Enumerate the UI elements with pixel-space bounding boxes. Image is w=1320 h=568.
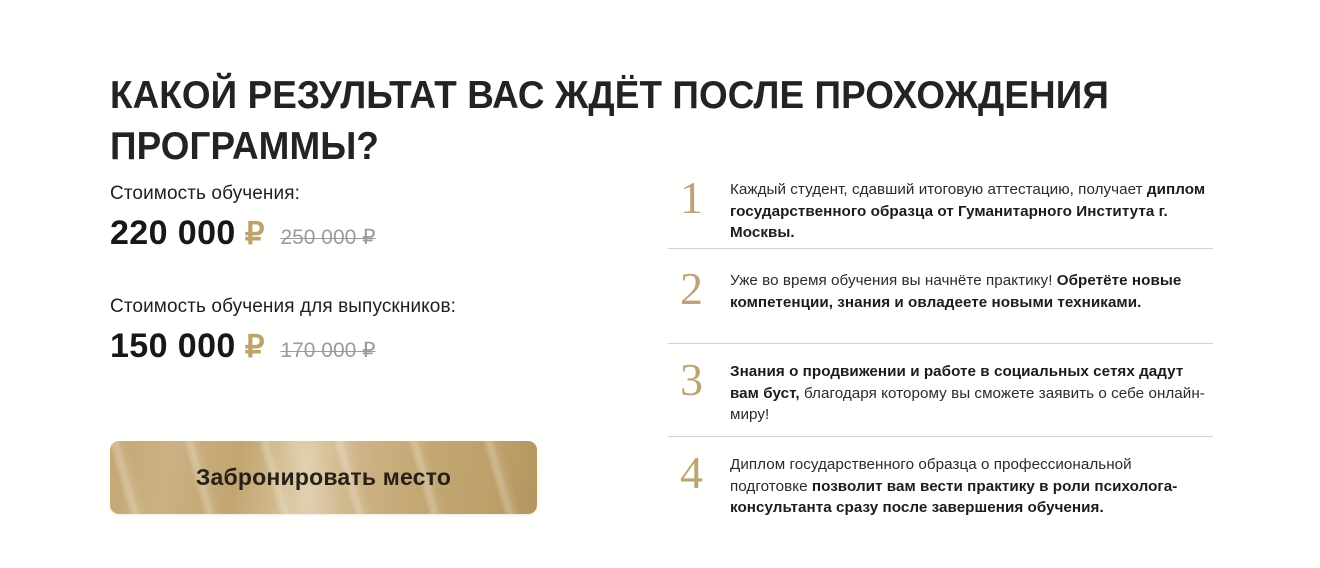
book-place-button[interactable]: Забронировать место	[110, 441, 537, 514]
price-label: Стоимость обучения для выпускников:	[110, 295, 630, 319]
pricing-column: Стоимость обучения: 220 000 ₽ 250 000 ₽ …	[110, 182, 630, 372]
price-old-amount: 170 000 ₽	[280, 330, 375, 372]
price-block-tuition: Стоимость обучения: 220 000 ₽ 250 000 ₽	[110, 182, 630, 259]
book-place-button-label: Забронировать место	[110, 441, 537, 514]
list-item-text: Уже во время обучения вы начнёте практик…	[730, 265, 1213, 313]
price-row: 220 000 ₽ 250 000 ₽	[110, 212, 630, 259]
list-item-text: Каждый студент, сдавший итоговую аттеста…	[730, 174, 1213, 244]
ruble-icon: ₽	[245, 326, 265, 368]
list-item-number: 2	[668, 265, 730, 313]
price-row: 150 000 ₽ 170 000 ₽	[110, 325, 630, 372]
list-item-number: 4	[668, 449, 730, 497]
list-item: 4 Диплом государственного образца о проф…	[668, 437, 1213, 519]
price-block-graduates: Стоимость обучения для выпускников: 150 …	[110, 295, 630, 372]
list-item: 2 Уже во время обучения вы начнёте практ…	[668, 249, 1213, 344]
benefits-list: 1 Каждый студент, сдавший итоговую аттес…	[668, 172, 1213, 519]
page-title: КАКОЙ РЕЗУЛЬТАТ ВАС ЖДЁТ ПОСЛЕ ПРОХОЖДЕН…	[110, 70, 1150, 172]
price-amount: 150 000	[110, 325, 236, 367]
list-item: 3 Знания о продвижении и работе в социал…	[668, 344, 1213, 437]
list-item: 1 Каждый студент, сдавший итоговую аттес…	[668, 172, 1213, 249]
list-item-text: Знания о продвижении и работе в социальн…	[730, 356, 1213, 426]
price-label: Стоимость обучения:	[110, 182, 630, 206]
price-amount: 220 000	[110, 212, 236, 254]
cta-container: Забронировать место	[110, 441, 537, 514]
list-item-number: 3	[668, 356, 730, 404]
landing-section: КАКОЙ РЕЗУЛЬТАТ ВАС ЖДЁТ ПОСЛЕ ПРОХОЖДЕН…	[0, 0, 1320, 568]
list-item-number: 1	[668, 174, 730, 222]
ruble-icon: ₽	[245, 213, 265, 255]
list-item-text: Диплом государственного образца о профес…	[730, 449, 1213, 519]
price-old-amount: 250 000 ₽	[280, 217, 375, 259]
